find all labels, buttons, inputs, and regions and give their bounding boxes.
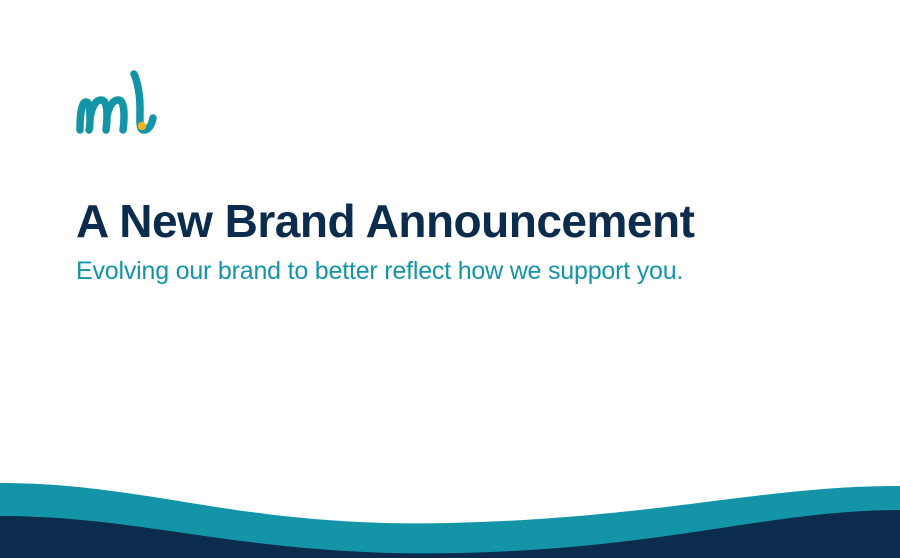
page-title: A New Brand Announcement — [76, 196, 836, 247]
page-subtitle: Evolving our brand to better reflect how… — [76, 256, 856, 286]
logo-dot — [138, 122, 146, 130]
wave-decoration — [0, 398, 900, 558]
ml-logo — [76, 68, 166, 138]
announcement-slide: A New Brand Announcement Evolving our br… — [0, 0, 900, 558]
